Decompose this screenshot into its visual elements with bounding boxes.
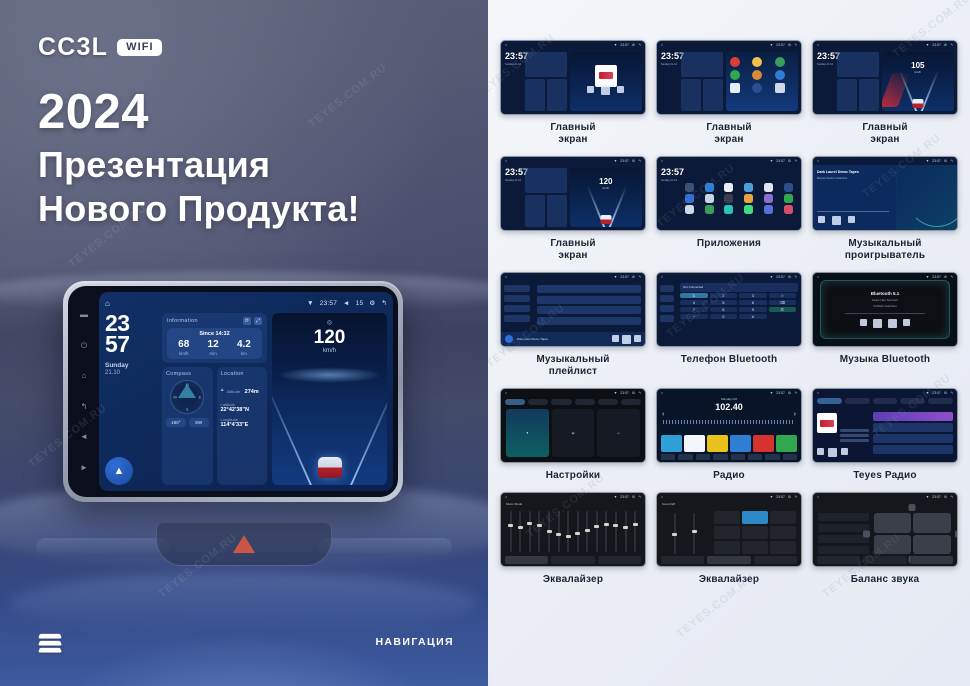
balance-pad[interactable] — [874, 513, 951, 554]
list-item-caption: Главный экран — [550, 122, 595, 146]
thumb-time: 23:57 — [505, 52, 523, 60]
clock-date: 21.10 — [105, 370, 157, 378]
back-icon[interactable]: ↰ — [381, 299, 387, 307]
navigation-arrow-button[interactable]: ▲ — [105, 457, 133, 485]
list-item[interactable]: ⌂▼23:57⚙↰ 23:57Sunday 21.10 07:30 PM Гла… — [500, 40, 646, 146]
car-icon — [600, 215, 611, 224]
stat-distance: 4.2 km — [237, 340, 251, 356]
list-item-caption: Приложения — [697, 238, 761, 250]
home-icon: ⌂ — [817, 159, 819, 163]
gallery-grid: ⌂▼23:57⚙↰ 23:57Sunday 21.10 07:30 PM Гла… — [500, 40, 958, 586]
tuning-scale[interactable] — [663, 420, 795, 424]
thumbnail-sound-balance[interactable]: ⌂▼23:57⚙↰ — [812, 492, 958, 567]
list-item[interactable]: ⌂▼23:57⚙↰ Mayday FM 102.40 ‹ › — [656, 388, 802, 482]
list-item[interactable]: ⌂▼23:57⚙↰ Sound Eff Эквалайз — [656, 492, 802, 586]
list-item-caption: Эквалайзер — [699, 574, 759, 586]
home-icon: ⌂ — [505, 391, 507, 395]
list-item-caption: Главный экран — [862, 122, 907, 146]
home-icon: ⌂ — [661, 495, 663, 499]
list-item[interactable]: ⌂▼23:57⚙↰ Music Mode — [500, 492, 646, 586]
thumb-sub: Sunday 21.10 — [505, 63, 523, 66]
compass-dial: N E S W — [170, 380, 204, 414]
headline-line-2: Нового Продукта! — [38, 187, 360, 231]
tile-wifi[interactable]: ▼ — [506, 409, 549, 457]
gear-icon[interactable]: ⚙ — [369, 299, 375, 307]
eq-footer-tabs[interactable] — [661, 556, 797, 564]
prev-station-icon[interactable]: ‹ — [662, 411, 664, 418]
list-item[interactable]: ⌂▼23:57⚙↰ Dark Laurel Demo Tapes Музыкал… — [500, 272, 646, 378]
list-item-caption: Главный экран — [706, 122, 751, 146]
favorite-icon[interactable]: ☆ — [769, 293, 796, 298]
volume-icon[interactable]: ◄ — [343, 300, 350, 307]
screenshot-gallery: ⌂▼23:57⚙↰ 23:57Sunday 21.10 07:30 PM Гла… — [488, 0, 970, 686]
presentation-slide: CC3L WIFI 2024 Презентация Нового Продук… — [0, 0, 970, 686]
list-item[interactable]: ⌂▼23:57⚙↰ 23:57Sunday 21.10 — [656, 156, 802, 262]
home-icon: ⌂ — [661, 391, 663, 395]
thumbnail-home-road[interactable]: ⌂▼23:57⚙↰ 23:57Sunday 21.10 120km/h — [500, 156, 646, 231]
refresh-icon[interactable]: ⟳ — [243, 317, 251, 325]
longitude-value: 114°4'33"E — [221, 422, 264, 428]
more-icon: ••• — [617, 431, 620, 435]
home-button[interactable]: ⌂ — [82, 372, 87, 380]
thumbnail-home-road-red[interactable]: ⌂▼23:57⚙↰ 23:57Sunday 21.10 105km/h — [812, 40, 958, 115]
home-icon[interactable]: ⌂ — [105, 299, 110, 308]
list-item[interactable]: ⌂▼23:57⚙↰ 23:57Sunday 21.10 — [656, 40, 802, 146]
thumbnail-playlist[interactable]: ⌂▼23:57⚙↰ Dark Laurel Demo Tapes — [500, 272, 646, 347]
wifi-badge: WIFI — [117, 39, 162, 56]
home-icon: ⌂ — [505, 43, 507, 47]
hazard-triangle-icon — [233, 535, 255, 553]
balance-up-button[interactable] — [909, 504, 916, 511]
list-item[interactable]: ⌂▼23:57⚙↰ Not Connected 1 2 3 ☆ 4 5 — [656, 272, 802, 378]
backspace-icon[interactable]: ⌫ — [769, 300, 796, 305]
list-item-caption: Музыкальный проигрыватель — [845, 238, 925, 262]
speed-widget[interactable]: ◎ 120 km/h — [272, 313, 387, 485]
home-icon: ⌂ — [505, 275, 507, 279]
hero-footer-label: НАВИГАЦИЯ — [375, 636, 454, 648]
compass-south: S — [186, 407, 189, 412]
hardware-button-strip[interactable]: ▬ ⏻ ⌂ ↰ ◄ ► — [73, 292, 95, 491]
list-item-caption: Teyes Радио — [853, 470, 916, 482]
stat-duration: 12 min — [208, 340, 219, 356]
home-icon: ⌂ — [505, 159, 507, 163]
list-item[interactable]: ⌂▼23:57⚙↰ — [812, 388, 958, 482]
thumbnail-apps[interactable]: ⌂▼23:57⚙↰ 23:57Sunday 21.10 — [656, 156, 802, 231]
station-name: Mayday FM — [657, 397, 801, 401]
mountain-icon: ⛰ — [221, 387, 224, 392]
head-unit: ▬ ⏻ ⌂ ↰ ◄ ► ⌂ ▼ 23:57 ◄ 15 — [63, 281, 403, 502]
information-card[interactable]: Information ⟳ ⤢ Since 14:32 — [162, 313, 267, 363]
eq-footer-tabs[interactable] — [817, 556, 953, 564]
latitude-value: 22°42'38"N — [221, 407, 264, 413]
album-art — [817, 413, 837, 433]
prev-icon — [860, 319, 867, 326]
thumbnail-radio[interactable]: ⌂▼23:57⚙↰ Mayday FM 102.40 ‹ › — [656, 388, 802, 463]
bt-track-title: Feels Like Summer — [872, 298, 898, 302]
page-title: 2024 Презентация Нового Продукта! — [38, 88, 360, 231]
radio-frequency: 102.40 — [657, 402, 801, 412]
vol-up-button[interactable]: ► — [80, 464, 88, 472]
compass-heading-degrees: 180° — [166, 418, 186, 427]
audio-visualizer — [897, 165, 957, 230]
layers-icon — [39, 633, 61, 654]
headline-year: 2024 — [38, 88, 360, 137]
list-item-caption: Главный экран — [550, 238, 595, 262]
hero-panel: CC3L WIFI 2024 Презентация Нового Продук… — [0, 0, 488, 686]
dash-curve-lower — [10, 572, 478, 634]
list-item[interactable]: ⌂▼23:57⚙↰ 23:57Sunday 21.10 105km/h Глав… — [812, 40, 958, 146]
volume-level: 15 — [356, 300, 364, 307]
track-artist: Bonsia Studio Collection — [817, 176, 893, 180]
compass-west: W — [173, 395, 177, 400]
air-vent-right — [318, 538, 452, 556]
head-unit-screen[interactable]: ⌂ ▼ 23:57 ◄ 15 ⚙ ↰ 23 — [99, 292, 393, 491]
tile-more[interactable]: ••• — [597, 409, 640, 457]
thumbnail-bluetooth-phone[interactable]: ⌂▼23:57⚙↰ Not Connected 1 2 3 ☆ 4 5 — [656, 272, 802, 347]
power-button[interactable]: ⏻ — [81, 342, 87, 350]
car-icon — [912, 99, 923, 108]
thumbnail-equalizer-simple[interactable]: ⌂▼23:57⚙↰ Sound Eff — [656, 492, 802, 567]
list-item[interactable]: ⌂▼23:57⚙↰ — [812, 492, 958, 586]
status-time: 23:57 — [320, 300, 337, 307]
phone-tabs[interactable] — [657, 281, 677, 346]
back-button[interactable]: ↰ — [81, 403, 88, 411]
headline-line-1: Презентация — [38, 143, 360, 187]
call-icon[interactable]: ✆ — [769, 307, 796, 312]
home-icon: ⌂ — [817, 391, 819, 395]
balance-left-button[interactable] — [863, 530, 870, 537]
list-item-caption: Радио — [713, 470, 745, 482]
list-item-caption: Баланс звука — [851, 574, 919, 586]
list-item[interactable]: ⌂▼23:57⚙↰ ▼ ▣ ••• Настройки — [500, 388, 646, 482]
bt-track-artist: Childish Gambino — [873, 304, 897, 308]
bluetooth-card: Bluetooth 5.1 Feels Like Summer Childish… — [820, 280, 950, 339]
balance-presets[interactable] — [818, 513, 869, 554]
compass-north: N — [186, 382, 189, 387]
list-item-caption: Эквалайзер — [543, 574, 603, 586]
thumbnail-music-player[interactable]: ⌂▼23:57⚙↰ Dark Laurel Demo Tapes Bonsia … — [812, 156, 958, 231]
home-icon: ⌂ — [661, 159, 663, 163]
list-item-caption: Музыка Bluetooth — [840, 354, 930, 366]
thumbnail-home-music[interactable]: ⌂▼23:57⚙↰ 23:57Sunday 21.10 07:30 PM — [500, 40, 646, 115]
brand-logo: CC3L WIFI — [38, 33, 162, 62]
home-icon: ⌂ — [505, 495, 507, 499]
compass-east: E — [199, 395, 202, 400]
next-station-icon[interactable]: › — [794, 411, 796, 418]
mini-player-bar[interactable]: Dark Laurel Demo Tapes — [501, 332, 645, 346]
carplay-icon: ▣ — [572, 431, 575, 435]
information-title: Information — [167, 318, 198, 324]
eq-footer-tabs[interactable] — [505, 556, 641, 564]
app-shortcuts[interactable] — [726, 52, 798, 111]
since-label: Since 14:32 — [169, 331, 260, 337]
list-item-caption: Настройки — [546, 470, 601, 482]
list-item[interactable]: ⌂▼23:57⚙↰ 23:57Sunday 21.10 120km/h Глав… — [500, 156, 646, 262]
station-list[interactable] — [873, 409, 957, 462]
home-icon: ⌂ — [661, 275, 663, 279]
home-icon: ⌂ — [817, 43, 819, 47]
radio-toolbar[interactable] — [661, 454, 797, 460]
location-card[interactable]: Location ⛰ Altitude 274m — [217, 367, 268, 485]
player-controls[interactable] — [817, 448, 848, 457]
balance-right-button[interactable] — [955, 530, 958, 537]
location-title: Location — [221, 371, 264, 377]
speed-streak — [882, 73, 910, 107]
brand-name: CC3L — [38, 33, 108, 62]
preset-stations[interactable] — [661, 435, 797, 452]
stat-speed: 68 km/h — [178, 340, 189, 356]
speed-unit: km/h — [323, 348, 336, 354]
speed-value: 120 — [314, 328, 346, 347]
home-icon: ⌂ — [661, 43, 663, 47]
thumbnail-bluetooth-music[interactable]: ⌂▼23:57⚙↰ Bluetooth 5.1 Feels Like Summe… — [812, 272, 958, 347]
mute-button[interactable]: ▬ — [80, 311, 88, 319]
connection-status: Not Connected — [680, 283, 798, 292]
status-bar: ⌂ ▼ 23:57 ◄ 15 ⚙ ↰ — [105, 297, 387, 309]
player-controls[interactable] — [570, 86, 642, 95]
thumbnail-home-apps[interactable]: ⌂▼23:57⚙↰ 23:57Sunday 21.10 — [656, 40, 802, 115]
now-playing: Dark Laurel Demo Tapes — [517, 337, 548, 341]
next-icon — [903, 319, 910, 326]
air-vent-left — [36, 538, 170, 556]
altitude-value: 274m — [245, 389, 259, 395]
settings-tiles[interactable]: ▼ ▣ ••• — [501, 397, 645, 462]
tile-carplay[interactable]: ▣ — [552, 409, 595, 457]
app-drawer[interactable] — [679, 165, 801, 230]
list-item-caption: Музыкальный плейлист — [536, 354, 609, 378]
hazard-button-bar[interactable] — [156, 522, 332, 566]
wifi-icon[interactable]: ▼ — [307, 300, 314, 307]
home-icon: ⌂ — [817, 275, 819, 279]
altitude-label: Altitude — [227, 389, 240, 394]
compass-card[interactable]: Compass N E S W 180° — [162, 367, 213, 485]
vol-down-button[interactable]: ◄ — [80, 433, 88, 441]
clock-widget[interactable]: 23 57 Sunday 21.10 ▲ — [105, 313, 157, 485]
compass-title: Compass — [166, 371, 209, 377]
thumbnail-equalizer-bands[interactable]: ⌂▼23:57⚙↰ Music Mode — [500, 492, 646, 567]
compass-heading-direction: SW — [189, 418, 209, 427]
list-item[interactable]: ⌂▼23:57⚙↰ Dark Laurel Demo Tapes Bonsia … — [812, 156, 958, 262]
progress-bar[interactable] — [817, 211, 889, 212]
car-icon — [318, 457, 342, 478]
play-icon — [873, 319, 882, 328]
thumbnail-settings[interactable]: ⌂▼23:57⚙↰ ▼ ▣ ••• — [500, 388, 646, 463]
clock-day: Sunday — [105, 362, 157, 370]
thumbnail-teyes-radio[interactable]: ⌂▼23:57⚙↰ — [812, 388, 958, 463]
wifi-icon: ▼ — [526, 431, 529, 435]
stop-icon — [888, 319, 897, 328]
home-icon: ⌂ — [817, 495, 819, 499]
list-item-caption: Телефон Bluetooth — [681, 354, 778, 366]
clock-minutes: 57 — [105, 334, 157, 355]
thumb-speed: 120km/h — [570, 177, 642, 190]
progress-bar[interactable] — [845, 313, 924, 314]
player-controls[interactable] — [818, 216, 855, 225]
track-title: Dark Laurel Demo Tapes — [817, 170, 893, 174]
expand-icon[interactable]: ⤢ — [254, 317, 262, 325]
bluetooth-title: Bluetooth 5.1 — [871, 291, 900, 296]
player-controls[interactable] — [860, 319, 910, 328]
list-item[interactable]: ⌂▼23:57⚙↰ Bluetooth 5.1 Feels Like Summe… — [812, 272, 958, 378]
speed-icon: ◎ — [327, 319, 332, 326]
